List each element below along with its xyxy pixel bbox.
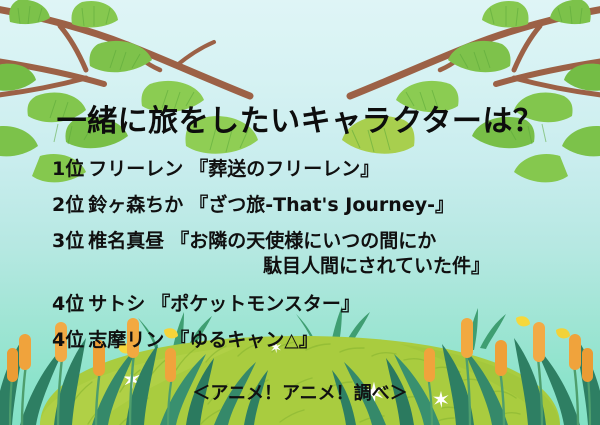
- branch-right-group: [342, 0, 600, 182]
- character-name: サトシ: [88, 293, 145, 315]
- rank-number: 2位: [52, 194, 84, 216]
- work-title: 『葬送のフリーレン』: [189, 158, 379, 180]
- ranking-row-5: 4位志摩リン『ゆるキャン△』: [52, 331, 552, 350]
- page-title: 一緒に旅をしたいキャラクターは？: [0, 96, 600, 140]
- ranking-row-1: 1位フリーレン『葬送のフリーレン』: [52, 160, 552, 179]
- rank-number: 1位: [52, 158, 84, 180]
- work-title: 『お隣の天使様にいつの間にか: [170, 230, 436, 252]
- work-title: 『ポケットモンスター』: [151, 293, 360, 315]
- character-name: 椎名真昼: [88, 230, 164, 252]
- rank-number: 3位: [52, 230, 84, 252]
- character-name: フリーレン: [88, 158, 183, 180]
- work-title-continued: 駄目人間にされていた件』: [52, 257, 490, 276]
- ranking-row-4: 4位サトシ『ポケットモンスター』: [52, 295, 552, 314]
- ranking-row-2: 2位鈴ヶ森ちか『ざつ旅-That's Journey-』: [52, 196, 552, 215]
- work-title: 『ざつ旅-That's Journey-』: [189, 194, 454, 216]
- rank-number: 4位: [52, 293, 84, 315]
- poster-canvas: 一緒に旅をしたいキャラクターは？ 1位フリーレン『葬送のフリーレン』 2位鈴ヶ森…: [0, 0, 600, 425]
- ranking-list: 1位フリーレン『葬送のフリーレン』 2位鈴ヶ森ちか『ざつ旅-That's Jou…: [52, 160, 552, 350]
- character-name: 鈴ヶ森ちか: [88, 194, 183, 216]
- rank-number: 4位: [52, 329, 84, 351]
- branch-left-group: [0, 0, 258, 182]
- ranking-row-3: 3位椎名真昼『お隣の天使様にいつの間にか: [52, 232, 552, 251]
- character-name: 志摩リン: [88, 329, 164, 351]
- work-title: 『ゆるキャン△』: [170, 329, 318, 351]
- source-credit: ＜アニメ！アニメ！調べ＞: [0, 379, 600, 405]
